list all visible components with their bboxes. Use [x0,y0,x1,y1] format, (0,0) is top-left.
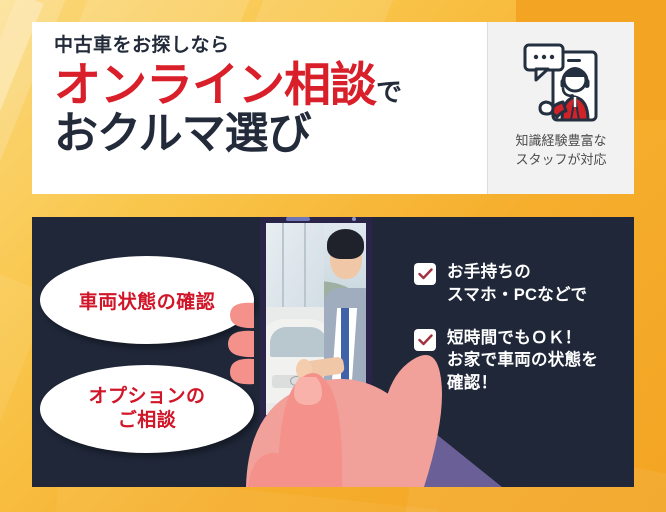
headline-tail-text: で [376,77,402,107]
staff-caption-line-2: スタッフが対応 [515,151,606,170]
staff-panel: 知識経験豊富な スタッフが対応 [487,22,634,194]
body-panel: 車両状態の確認 オプションの ご相談 [32,217,634,487]
header-card: 中古車をお探しなら オンライン相談で おクルマ選び [32,22,634,194]
phone-home-button-icon [309,415,324,430]
smartphone-icon [260,217,372,433]
headline-secondary: おクルマ選び [54,111,487,157]
checklist-item: お手持ちの スマホ・PCなどで [414,261,624,307]
checkbox-checked-icon[interactable] [414,329,436,351]
checklist-item-label: 短時間でもＯＫ！ お家で車両の状態を 確認！ [447,327,598,395]
check-glyph [418,268,433,280]
staff-caption: 知識経験豊富な スタッフが対応 [515,132,606,170]
checklist: お手持ちの スマホ・PCなどで 短時間でもＯＫ！ お家で車両の状態を 確認！ [414,261,624,415]
checklist-item-label: お手持ちの スマホ・PCなどで [447,261,587,307]
staff-caption-line-1: 知識経験豊富な [515,132,606,151]
feature-oval: 車両状態の確認 [40,256,254,344]
headline-block: 中古車をお探しなら オンライン相談で おクルマ選び [32,22,487,194]
phone-camera-icon [352,217,356,221]
checkbox-checked-icon[interactable] [414,263,436,285]
promo-banner: 中古車をお探しなら オンライン相談で おクルマ選び [0,0,666,512]
feature-oval-label: オプションの ご相談 [88,385,205,434]
headline-accent-text: オンライン相談 [54,58,376,111]
phone-screen [266,223,366,415]
eyebrow-text: 中古車をお探しなら [54,36,487,55]
feature-oval: オプションの ご相談 [40,365,254,453]
headset-operator-on-screen-icon [522,36,600,128]
headline-primary: オンライン相談で [54,61,487,109]
checklist-item: 短時間でもＯＫ！ お家で車両の状態を 確認！ [414,327,624,395]
feature-oval-label: 車両状態の確認 [79,287,216,314]
check-glyph [418,334,433,346]
phone-speaker-icon [286,217,310,221]
